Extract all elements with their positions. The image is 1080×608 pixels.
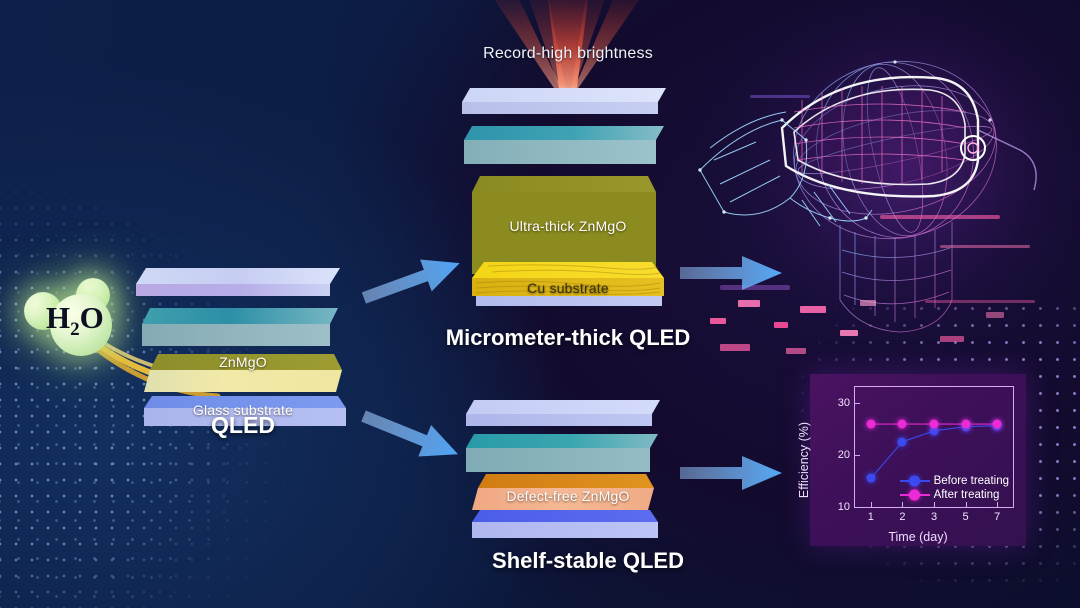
h2o-formula: H2O	[46, 300, 104, 341]
chart-x-tick-mark	[997, 502, 998, 507]
arrow-to-efficiency-chart	[678, 448, 786, 498]
chart-y-tick: 30	[838, 397, 850, 409]
chart-x-tick-mark	[966, 502, 967, 507]
chart-x-tick: 3	[931, 511, 937, 523]
chart-data-point	[993, 420, 1002, 429]
efficiency-chart: Efficiency (%) Before treating After tre…	[810, 374, 1026, 546]
vr-headset-illustration	[690, 0, 1080, 370]
chart-x-tick: 5	[963, 511, 969, 523]
chart-y-tick-mark	[855, 455, 860, 456]
chart-x-tick: 7	[994, 511, 1000, 523]
chart-x-tick-mark	[934, 502, 935, 507]
chart-data-point	[898, 437, 907, 446]
qled-stack-shelf-stable: Defect-free ZnMgO	[448, 396, 688, 556]
chart-legend-item: After treating	[900, 489, 1009, 501]
chart-x-tick-mark	[871, 502, 872, 507]
chart-data-point	[866, 420, 875, 429]
chart-legend-swatch	[900, 494, 930, 496]
chart-data-point	[930, 420, 939, 429]
chart-data-point	[898, 420, 907, 429]
chart-data-point	[961, 420, 970, 429]
chart-legend-swatch	[900, 480, 930, 482]
chart-y-tick: 20	[838, 449, 850, 461]
chart-y-tick-mark	[855, 403, 860, 404]
qled-title-micrometer: Micrometer-thick QLED	[418, 325, 718, 351]
qled-title-left: QLED	[128, 412, 358, 439]
qled-stack-micrometer: Ultra-thick ZnMgO Cu substrate	[448, 80, 688, 320]
chart-x-axis-label: Time (day)	[810, 530, 1026, 544]
chart-legend: Before treating After treating	[900, 475, 1009, 503]
graphical-abstract: H2O	[0, 0, 1080, 608]
chart-x-tick-mark	[902, 502, 903, 507]
chart-y-tick-mark	[855, 507, 860, 508]
chart-y-axis-label: Efficiency (%)	[797, 422, 811, 498]
chart-plot-area: Before treating After treating 102030123…	[854, 386, 1014, 508]
chart-data-point	[866, 474, 875, 483]
chart-x-tick: 1	[868, 511, 874, 523]
chart-legend-label: After treating	[934, 489, 1000, 501]
chart-x-tick: 2	[899, 511, 905, 523]
chart-legend-label: Before treating	[934, 475, 1009, 487]
chart-y-tick: 10	[838, 501, 850, 513]
arrow-to-vr-application	[678, 248, 786, 298]
qled-title-shelf-stable: Shelf-stable QLED	[438, 548, 738, 574]
chart-legend-item: Before treating	[900, 475, 1009, 487]
